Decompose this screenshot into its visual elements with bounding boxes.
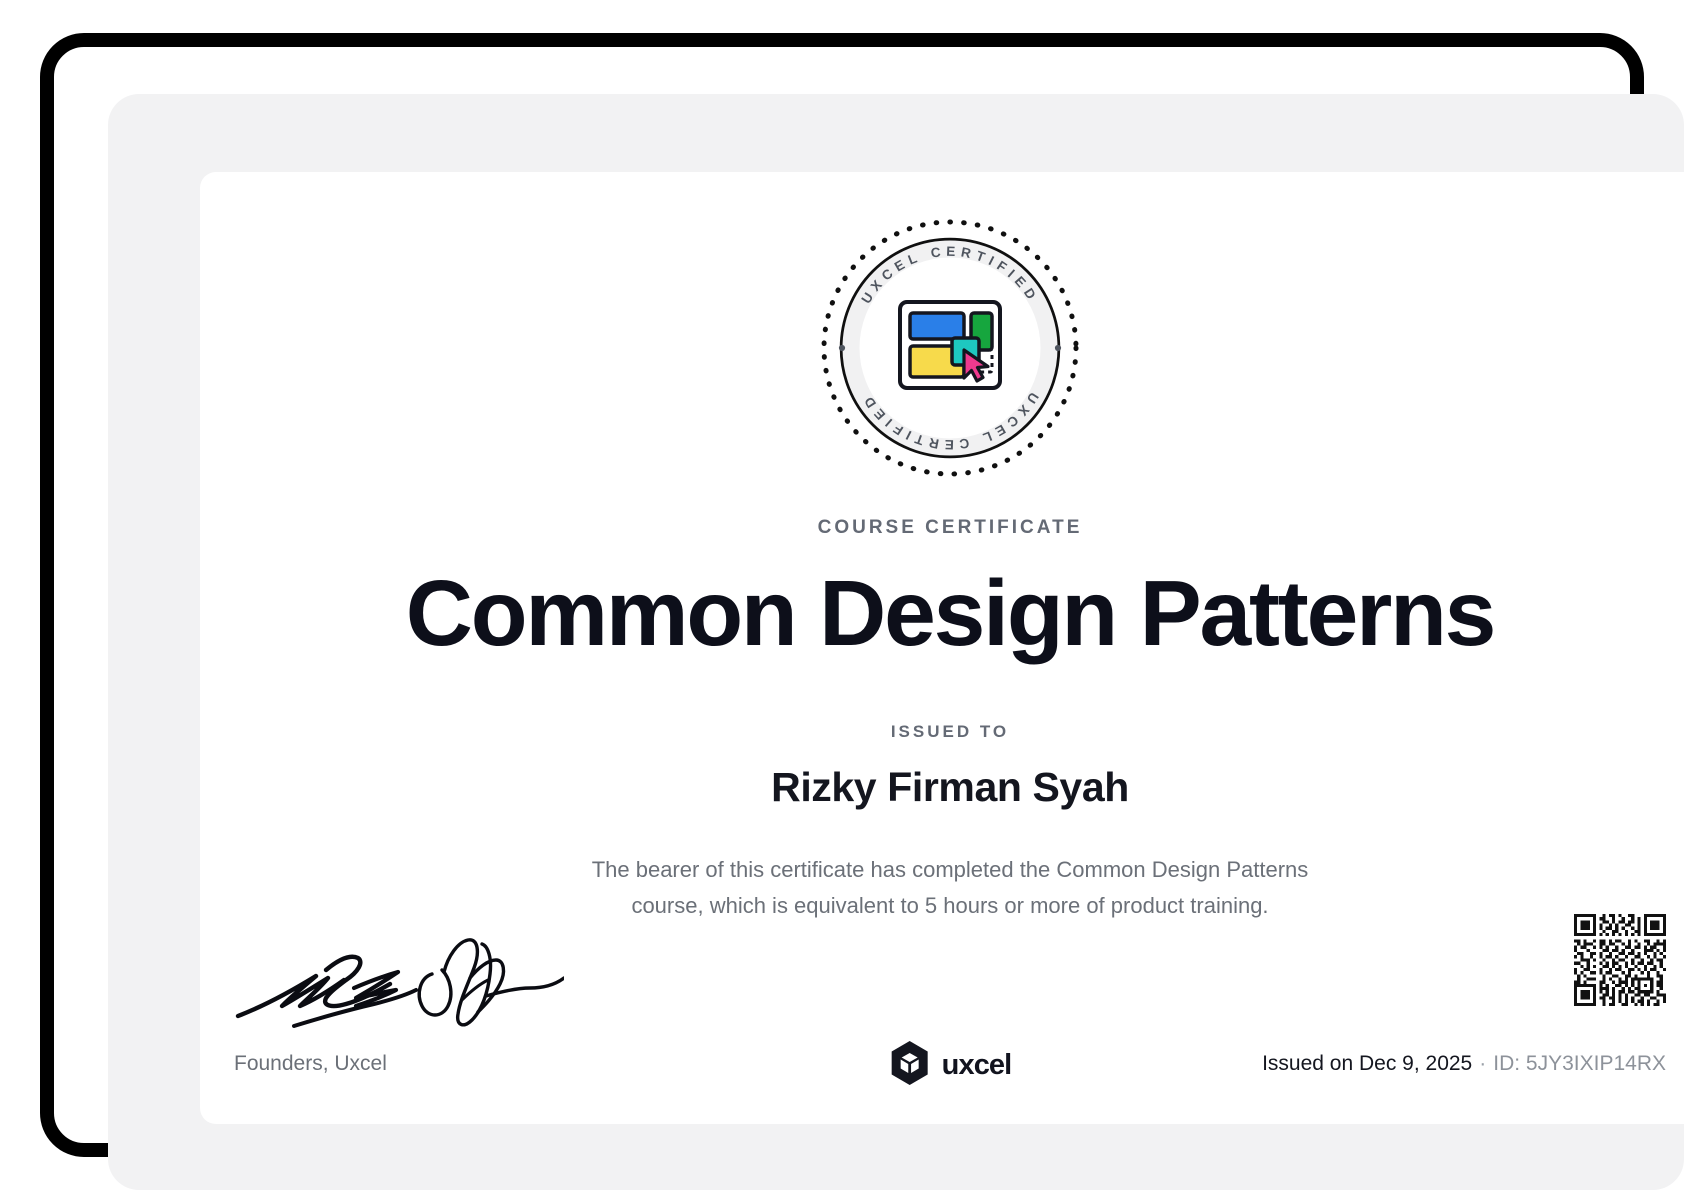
body-line-2: course, which is equivalent to 5 hours o… (520, 888, 1380, 924)
certificate-outer-frame: UXCEL CERTIFIED UXCEL CERTIFIED (40, 33, 1644, 1157)
course-certificate-kicker: COURSE CERTIFICATE (200, 517, 1684, 539)
signature-right (419, 940, 564, 1025)
ui-layout-cursor-icon (900, 302, 1000, 388)
issue-info-separator: · (1472, 1052, 1493, 1075)
seal-bullet-left (839, 345, 845, 351)
recipient-name: Rizky Firman Syah (200, 764, 1684, 811)
body-line-1: The bearer of this certificate has compl… (520, 852, 1380, 888)
certificate-qr-code[interactable] (1574, 914, 1666, 1006)
uxcel-wordmark: uxcel (942, 1049, 1012, 1082)
icon-rect-blue (910, 313, 964, 339)
uxcel-certified-seal: UXCEL CERTIFIED UXCEL CERTIFIED (816, 214, 1084, 482)
certificate-card: UXCEL CERTIFIED UXCEL CERTIFIED (200, 172, 1684, 1124)
founders-label: Founders, Uxcel (234, 1052, 387, 1076)
uxcel-hexagon-logo (889, 1040, 931, 1091)
certificate-page: UXCEL CERTIFIED UXCEL CERTIFIED (0, 0, 1684, 1190)
issued-to-label: ISSUED TO (200, 722, 1684, 742)
certificate-title: Common Design Patterns (200, 564, 1684, 663)
seal-bullet-right (1055, 345, 1061, 351)
certificate-gray-panel: UXCEL CERTIFIED UXCEL CERTIFIED (108, 94, 1684, 1190)
certificate-id: ID: 5JY3IXIP14RX (1493, 1052, 1666, 1075)
uxcel-brand: uxcel (889, 1040, 1012, 1091)
certificate-body-text: The bearer of this certificate has compl… (520, 852, 1380, 923)
founders-signatures (234, 934, 564, 1044)
issue-info: Issued on Dec 9, 2025·ID: 5JY3IXIP14RX (1262, 1052, 1666, 1076)
signature-left (238, 957, 416, 1026)
issued-on-date: Issued on Dec 9, 2025 (1262, 1052, 1472, 1075)
hexagon-shape (892, 1041, 928, 1085)
